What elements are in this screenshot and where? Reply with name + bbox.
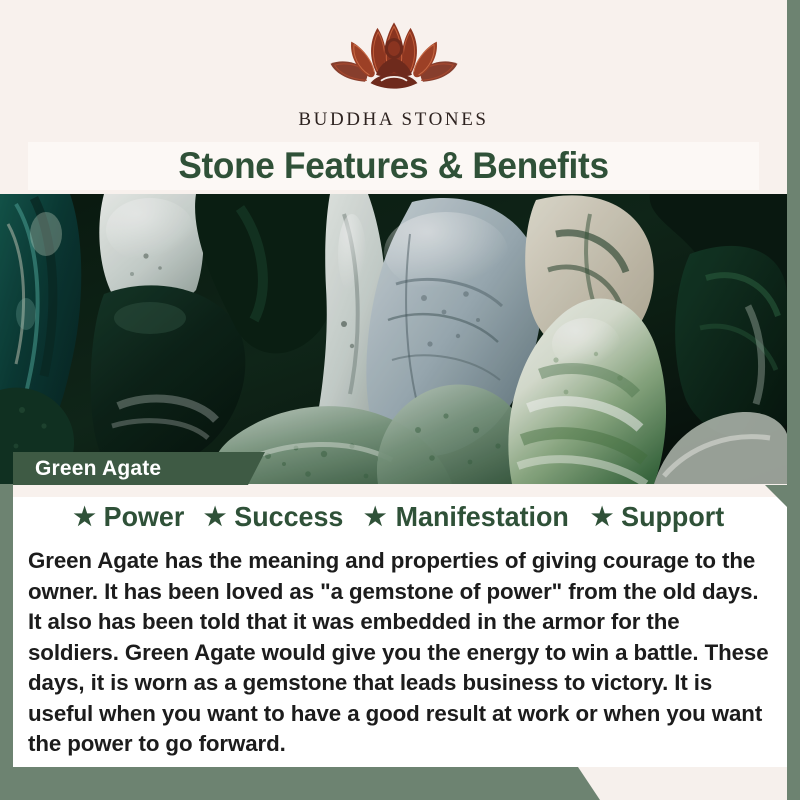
star-icon: ★ bbox=[204, 505, 226, 530]
panel-top-strip bbox=[13, 485, 787, 497]
frame-right-top-accent bbox=[787, 0, 800, 22]
benefit-item-power: ★ Power bbox=[73, 501, 185, 533]
benefit-item-success: ★ Success bbox=[204, 501, 346, 533]
stone-description: Green Agate has the meaning and properti… bbox=[28, 546, 775, 760]
benefit-label: Support bbox=[621, 501, 724, 533]
star-icon: ★ bbox=[73, 505, 95, 530]
lotus-meditation-figure-icon bbox=[325, 18, 463, 104]
brand-name: BUDDHA STONES bbox=[298, 109, 488, 131]
stone-name-label: Green Agate bbox=[35, 457, 161, 481]
star-icon: ★ bbox=[364, 505, 386, 530]
benefit-label: Power bbox=[104, 501, 185, 533]
page-title: Stone Features & Benefits bbox=[178, 145, 608, 187]
stone-details-panel: ★ Power ★ Success ★ Manifestation ★ Supp… bbox=[13, 485, 787, 767]
stone-photo bbox=[0, 194, 787, 484]
stone-name-banner: Green Agate bbox=[13, 452, 265, 485]
benefit-item-support: ★ Support bbox=[591, 501, 727, 533]
stone-info-card: BUDDHA STONES Stone Features & Benefits bbox=[0, 0, 800, 800]
title-band: Stone Features & Benefits bbox=[28, 142, 759, 190]
brand-logo: BUDDHA STONES bbox=[0, 18, 787, 131]
frame-left-accent bbox=[0, 478, 13, 800]
card-header: BUDDHA STONES Stone Features & Benefits bbox=[0, 0, 787, 195]
stone-photo-illustration bbox=[0, 194, 787, 484]
frame-bottom-accent bbox=[0, 767, 800, 800]
benefits-row: ★ Power ★ Success ★ Manifestation ★ Supp… bbox=[13, 501, 787, 533]
star-icon: ★ bbox=[591, 505, 613, 530]
frame-right-accent bbox=[787, 0, 800, 800]
benefit-label: Success bbox=[235, 501, 344, 533]
benefit-label: Manifestation bbox=[396, 501, 569, 533]
benefit-item-manifestation: ★ Manifestation bbox=[364, 501, 573, 533]
